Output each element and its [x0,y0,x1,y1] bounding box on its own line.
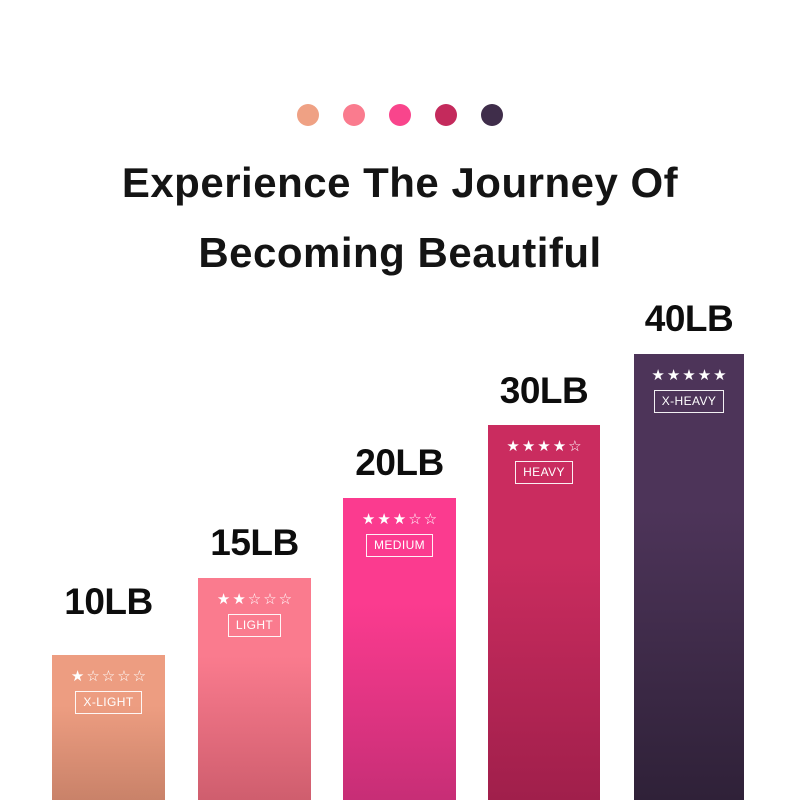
bar-content-30lb: ★★★★☆HEAVY [488,439,600,484]
star-filled-icon: ★ [553,439,566,454]
tier-badge-light: LIGHT [228,614,281,637]
rating-stars-10lb: ★☆☆☆☆ [71,669,146,684]
star-filled-icon: ★ [713,368,726,383]
bar-30lb: ★★★★☆HEAVY [488,425,600,800]
star-filled-icon: ★ [522,439,535,454]
star-empty-icon: ☆ [408,512,421,527]
rating-stars-40lb: ★★★★★ [651,368,726,383]
bar-group-10lb[interactable]: 10LB★☆☆☆☆X-LIGHT [52,0,165,800]
bar-weight-label-10lb: 10LB [52,583,165,620]
tier-badge-x-heavy: X-HEAVY [654,390,725,413]
star-empty-icon: ☆ [133,669,146,684]
star-empty-icon: ☆ [102,669,115,684]
tier-badge-heavy: HEAVY [515,461,573,484]
bar-40lb: ★★★★★X-HEAVY [634,354,744,800]
bar-group-30lb[interactable]: 30LB★★★★☆HEAVY [488,0,600,800]
star-empty-icon: ☆ [568,439,581,454]
bar-weight-label-15lb: 15LB [198,524,311,561]
bar-group-40lb[interactable]: 40LB★★★★★X-HEAVY [634,0,744,800]
star-filled-icon: ★ [362,512,375,527]
star-filled-icon: ★ [377,512,390,527]
tier-badge-medium: MEDIUM [366,534,433,557]
star-filled-icon: ★ [217,592,230,607]
bar-20lb: ★★★☆☆MEDIUM [343,498,456,800]
star-filled-icon: ★ [71,669,84,684]
resistance-band-bar-chart: 10LB★☆☆☆☆X-LIGHT15LB★★☆☆☆LIGHT20LB★★★☆☆M… [0,0,800,800]
star-empty-icon: ☆ [117,669,130,684]
star-filled-icon: ★ [393,512,406,527]
star-filled-icon: ★ [698,368,711,383]
bar-weight-label-40lb: 40LB [634,300,744,337]
star-filled-icon: ★ [651,368,664,383]
star-filled-icon: ★ [682,368,695,383]
star-empty-icon: ☆ [263,592,276,607]
rating-stars-20lb: ★★★☆☆ [362,512,437,527]
star-empty-icon: ☆ [248,592,261,607]
rating-stars-30lb: ★★★★☆ [506,439,581,454]
rating-stars-15lb: ★★☆☆☆ [217,592,292,607]
star-empty-icon: ☆ [424,512,437,527]
bar-content-10lb: ★☆☆☆☆X-LIGHT [52,669,165,714]
star-empty-icon: ☆ [279,592,292,607]
bar-weight-label-20lb: 20LB [343,444,456,481]
bar-10lb: ★☆☆☆☆X-LIGHT [52,655,165,800]
bar-weight-label-30lb: 30LB [488,372,600,409]
star-filled-icon: ★ [232,592,245,607]
bar-15lb: ★★☆☆☆LIGHT [198,578,311,800]
star-filled-icon: ★ [537,439,550,454]
bar-group-15lb[interactable]: 15LB★★☆☆☆LIGHT [198,0,311,800]
bar-content-15lb: ★★☆☆☆LIGHT [198,592,311,637]
star-empty-icon: ☆ [86,669,99,684]
bar-group-20lb[interactable]: 20LB★★★☆☆MEDIUM [343,0,456,800]
bar-content-40lb: ★★★★★X-HEAVY [634,368,744,413]
star-filled-icon: ★ [667,368,680,383]
tier-badge-x-light: X-LIGHT [75,691,141,714]
star-filled-icon: ★ [506,439,519,454]
bar-content-20lb: ★★★☆☆MEDIUM [343,512,456,557]
